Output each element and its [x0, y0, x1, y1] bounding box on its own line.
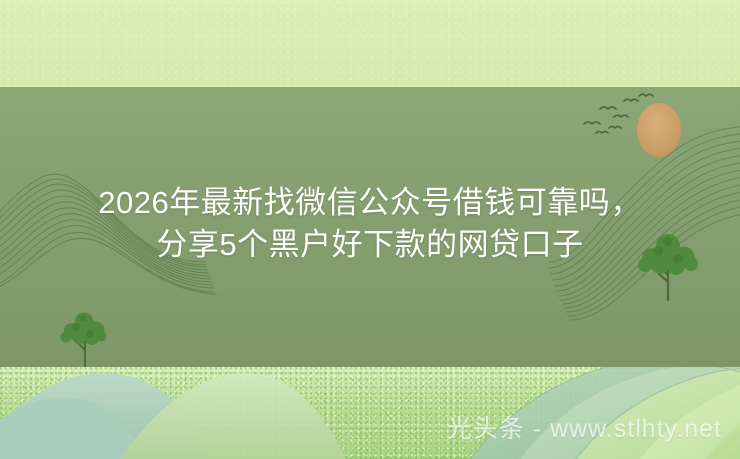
top-color-band: [0, 0, 740, 87]
poster-title: 2026年最新找微信公众号借钱可靠吗， 分享5个黑户好下款的网贷口子: [0, 182, 740, 266]
watermark-text: 光头条 - www.stlhty.net: [447, 409, 722, 445]
poster-canvas: 2026年最新找微信公众号借钱可靠吗， 分享5个黑户好下款的网贷口子 光头条 -…: [0, 0, 740, 459]
